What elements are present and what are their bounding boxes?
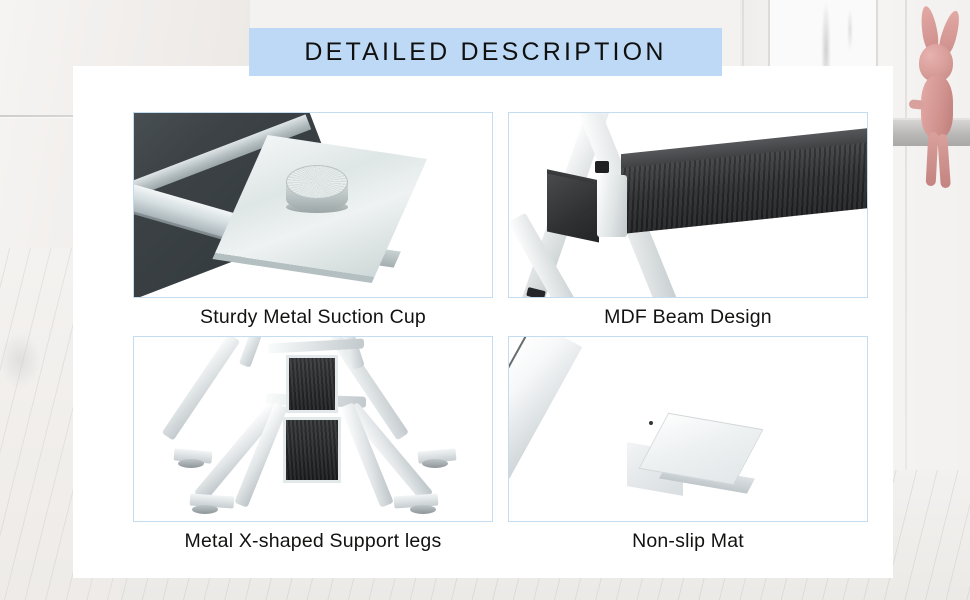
section-title-banner: DETAILED DESCRIPTION	[249, 28, 722, 76]
feature-caption-x-support-legs: Metal X-shaped Support legs	[133, 522, 493, 560]
suction-cup-top	[286, 165, 348, 199]
product-detail-image: DETAILED DESCRIPTION Sturdy Metal Suctio…	[0, 0, 970, 600]
feature-caption-mdf-beam: MDF Beam Design	[508, 298, 868, 336]
suction-cup	[286, 165, 348, 223]
leg-collar-bracket	[597, 175, 627, 237]
feature-caption-suction-cup: Sturdy Metal Suction Cup	[133, 298, 493, 336]
non-slip-pad	[410, 505, 436, 514]
mat-corner-marker	[649, 421, 653, 425]
non-slip-pad	[178, 459, 204, 468]
chrome-upper-arm	[162, 336, 241, 441]
beam-bracket-nub	[595, 161, 609, 173]
non-slip-pad	[422, 459, 448, 468]
feature-photo-suction-cup	[133, 112, 493, 298]
rabbit-body	[921, 76, 953, 138]
center-beam-lower	[283, 417, 341, 483]
floor-marble-accent	[0, 300, 60, 420]
center-beam-upper	[286, 355, 338, 413]
non-slip-pad	[192, 505, 218, 514]
feature-grid: Sturdy Metal Suction Cup MDF Beam Design	[133, 112, 868, 552]
feature-cell-non-slip-mat: Non-slip Mat	[508, 336, 868, 560]
feature-photo-non-slip-mat	[508, 336, 868, 522]
feature-cell-mdf-beam: MDF Beam Design	[508, 112, 868, 336]
page-title: DETAILED DESCRIPTION	[304, 38, 666, 67]
mdf-beam-end-face	[547, 173, 599, 242]
feature-photo-mdf-beam	[508, 112, 868, 298]
chrome-leg	[508, 336, 582, 478]
feature-cell-suction-cup: Sturdy Metal Suction Cup	[133, 112, 493, 336]
rabbit-figurine	[905, 8, 970, 178]
feature-photo-x-support-legs	[133, 336, 493, 522]
feature-caption-non-slip-mat: Non-slip Mat	[508, 522, 868, 560]
rabbit-arm	[909, 99, 926, 110]
feature-cell-x-support-legs: Metal X-shaped Support legs	[133, 336, 493, 560]
chrome-upper-arm	[239, 336, 265, 368]
